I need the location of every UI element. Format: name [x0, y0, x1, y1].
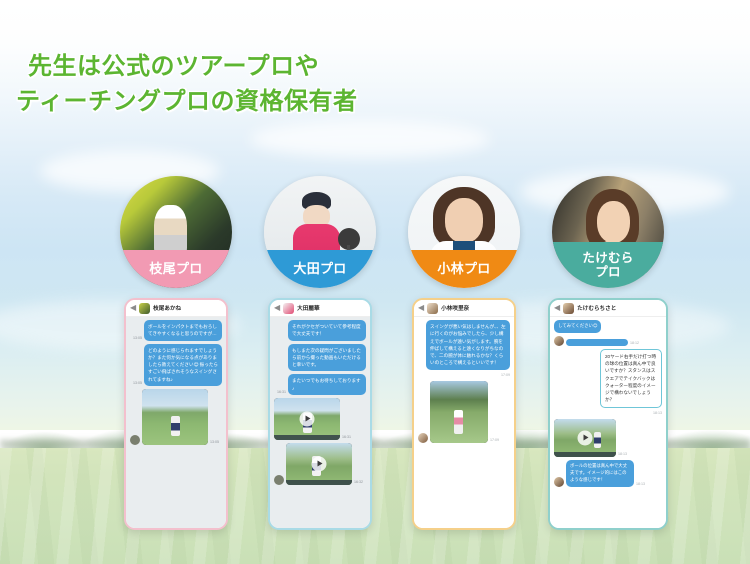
contact-avatar	[139, 303, 150, 314]
message-row: 16:31	[274, 398, 366, 440]
video-progress-bar[interactable]	[286, 480, 352, 485]
message-row: 17:09	[418, 373, 510, 378]
chevron-left-icon[interactable]: ◀	[130, 304, 136, 312]
golfer-figure	[171, 416, 180, 436]
message-row: 18:12	[554, 336, 662, 346]
sender-avatar	[554, 477, 564, 487]
contact-name: 枝尾あかね	[153, 304, 181, 312]
page-title: 先生は公式のツアープロや ティーチングプロの資格保有者	[28, 50, 358, 120]
pro-name-band: 小林プロ	[408, 250, 520, 288]
message-row: ボールの位置は真ん中で大丈夫です。イメージ的にはこのような感じです！ 18:13	[554, 460, 662, 487]
chat-header: ◀ 枝尾あかね	[126, 300, 226, 317]
pro-name-label: 大田プロ	[293, 262, 346, 277]
message-time: 13:05	[133, 381, 142, 386]
photo-attachment[interactable]	[430, 381, 488, 443]
golfer-figure	[454, 410, 463, 434]
avatar: 枝尾プロ	[120, 176, 232, 288]
pro-name-label: 枝尾プロ	[149, 262, 202, 277]
chat-header: ◀ 小林咲里奈	[414, 300, 514, 317]
contact-avatar	[427, 303, 438, 314]
pro-name-band: 大田プロ	[264, 250, 376, 288]
message-row: もしまた次の疑問がございましたら前から撮った動画もいただけると幸いです。	[274, 344, 366, 372]
message-bubble: ボールをインパクトまでもおろしてきやすくなると思うのですが…	[144, 320, 222, 341]
message-row: 13:05 どのように感じられますでしょうか？また何か気になる点がありましたら教…	[130, 344, 222, 386]
play-icon[interactable]	[300, 411, 315, 426]
message-bubble: してみてください😊	[554, 320, 601, 333]
contact-avatar	[563, 303, 574, 314]
chat-header: ◀ たけむらちさと	[550, 300, 666, 317]
message-bubble	[566, 339, 628, 346]
chat-header: ◀ 大田麗華	[270, 300, 370, 317]
message-time: 16:32	[354, 480, 363, 485]
chat-body[interactable]: それがクセがついていて参考程度で大丈夫です！ もしまた次の疑問がございましたら前…	[270, 317, 370, 528]
message-time: 17:09	[490, 438, 499, 443]
message-time: 18:12	[630, 341, 639, 346]
pro-card-3[interactable]: 小林プロ ◀ 小林咲里奈 スイングが悪い気はしませんが、、左に行くのがお悩みでし…	[388, 176, 540, 530]
chat-phone-card[interactable]: ◀ たけむらちさと してみてください😊 18:12 20ヤード右手だけ打つ時の球…	[548, 298, 668, 530]
message-row: それがクセがついていて参考程度で大丈夫です！	[274, 320, 366, 341]
chat-body[interactable]: 13:05 ボールをインパクトまでもおろしてきやすくなると思うのですが… 13:…	[126, 317, 226, 528]
play-icon[interactable]	[312, 456, 327, 471]
message-row: 18:13	[554, 419, 662, 457]
video-attachment[interactable]	[274, 398, 340, 440]
chevron-left-icon[interactable]: ◀	[554, 304, 560, 312]
message-row: 20ヤード右手だけ打つ時の球の位置は真ん中で良いですか？スタンスはスクエアでテイ…	[554, 349, 662, 408]
contact-name: 小林咲里奈	[441, 304, 469, 312]
message-bubble: もしまた次の疑問がございましたら前から撮った動画もいただけると幸いです。	[288, 344, 366, 372]
message-time: 13:05	[133, 336, 142, 341]
golfer-figure	[594, 432, 601, 448]
chevron-left-icon[interactable]: ◀	[274, 304, 280, 312]
video-attachment[interactable]	[554, 419, 616, 457]
pro-list: 枝尾プロ ◀ 枝尾あかね 13:05 ボールをインパクトまでもおろしてきやすくな…	[0, 176, 750, 556]
avatar: 大田プロ	[264, 176, 376, 288]
message-row: 13:05 ボールをインパクトまでもおろしてきやすくなると思うのですが…	[130, 320, 222, 341]
cloud-2	[250, 120, 490, 158]
message-row: 16:32	[274, 443, 366, 485]
chat-phone-card[interactable]: ◀ 枝尾あかね 13:05 ボールをインパクトまでもおろしてきやすくなると思うの…	[124, 298, 228, 530]
message-bubble: 20ヤード右手だけ打つ時の球の位置は真ん中で良いですか？スタンスはスクエアでテイ…	[600, 349, 662, 408]
message-bubble: それがクセがついていて参考程度で大丈夫です！	[288, 320, 366, 341]
video-progress-bar[interactable]	[274, 435, 340, 440]
chat-body[interactable]: スイングが悪い気はしませんが、、左に行くのがお悩みでしたら、少し構えでボールが遠…	[414, 317, 514, 528]
sender-avatar	[130, 435, 140, 445]
pro-card-2[interactable]: 大田プロ ◀ 大田麗華 それがクセがついていて参考程度で大丈夫です！ もしまた次…	[244, 176, 396, 530]
avatar: たけむら プロ	[552, 176, 664, 288]
message-row: 18:13	[554, 411, 662, 416]
message-bubble: どのように感じられますでしょうか？また何か気になる点がありましたら教えてください…	[144, 344, 222, 386]
message-bubble: またいつでもお待ちしております♪	[288, 374, 366, 395]
sender-avatar	[274, 475, 284, 485]
chat-body[interactable]: してみてください😊 18:12 20ヤード右手だけ打つ時の球の位置は真ん中で良い…	[550, 317, 666, 528]
message-row: 16:31 またいつでもお待ちしております♪	[274, 374, 366, 395]
pro-name-band: たけむら プロ	[552, 242, 664, 288]
pro-card-1[interactable]: 枝尾プロ ◀ 枝尾あかね 13:05 ボールをインパクトまでもおろしてきやすくな…	[100, 176, 252, 530]
pro-card-4[interactable]: たけむら プロ ◀ たけむらちさと してみてください😊 18:12 20ヤー	[532, 176, 684, 530]
message-time: 17:09	[501, 373, 510, 378]
contact-name: たけむらちさと	[577, 304, 616, 312]
play-icon[interactable]	[578, 430, 593, 445]
chat-phone-card[interactable]: ◀ 大田麗華 それがクセがついていて参考程度で大丈夫です！ もしまた次の疑問がご…	[268, 298, 372, 530]
message-row: 13:05	[130, 389, 222, 445]
chat-phone-card[interactable]: ◀ 小林咲里奈 スイングが悪い気はしませんが、、左に行くのがお悩みでしたら、少し…	[412, 298, 516, 530]
message-row: してみてください😊	[554, 320, 662, 333]
message-time: 16:31	[342, 435, 351, 440]
video-progress-bar[interactable]	[554, 452, 616, 457]
message-time: 16:31	[277, 390, 286, 395]
page-title-line-1: 先生は公式のツアープロや	[28, 50, 358, 85]
pro-name-label: たけむら プロ	[582, 251, 633, 279]
sender-avatar	[554, 336, 564, 346]
contact-name: 大田麗華	[297, 304, 319, 312]
pro-name-label: 小林プロ	[437, 262, 490, 277]
contact-avatar	[283, 303, 294, 314]
page-title-line-2: ティーチングプロの資格保有者	[16, 85, 358, 120]
message-time: 18:13	[618, 452, 627, 457]
message-time: 18:13	[653, 411, 662, 416]
message-row: スイングが悪い気はしませんが、、左に行くのがお悩みでしたら、少し構えでボールが遠…	[418, 320, 510, 370]
message-time: 13:05	[210, 440, 219, 445]
pro-name-band: 枝尾プロ	[120, 250, 232, 288]
message-bubble: スイングが悪い気はしませんが、、左に行くのがお悩みでしたら、少し構えでボールが遠…	[426, 320, 510, 370]
chevron-left-icon[interactable]: ◀	[418, 304, 424, 312]
video-attachment[interactable]	[286, 443, 352, 485]
avatar: 小林プロ	[408, 176, 520, 288]
message-bubble: ボールの位置は真ん中で大丈夫です。イメージ的にはこのような感じです！	[566, 460, 634, 487]
message-time: 18:13	[636, 482, 645, 487]
sender-avatar	[418, 433, 428, 443]
photo-attachment[interactable]	[142, 389, 208, 445]
message-row: 17:09	[418, 381, 510, 443]
